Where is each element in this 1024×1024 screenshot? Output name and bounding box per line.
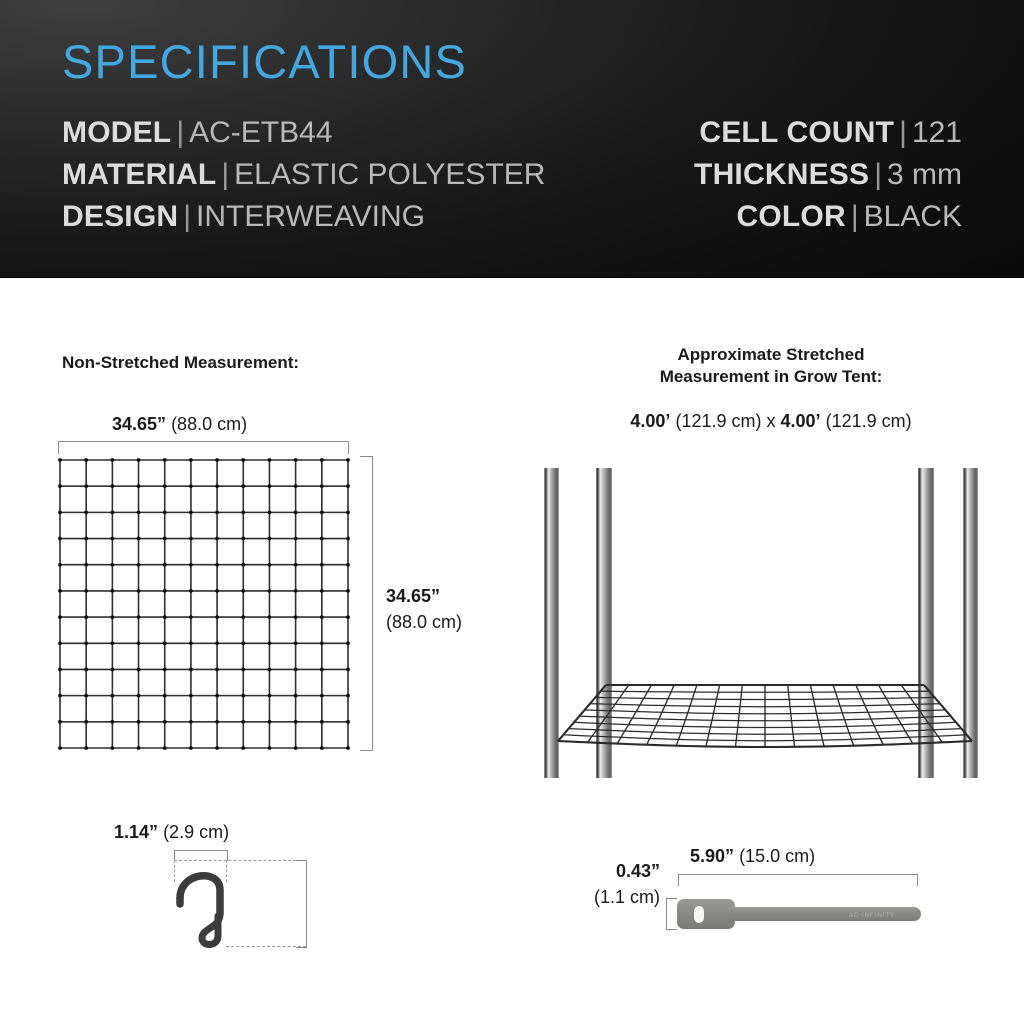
net-width-cm: (88.0 cm): [171, 414, 247, 434]
tent-width-cm: (121.9 cm): [675, 411, 761, 431]
spec-sheet-page: SPECIFICATIONS MODEL|AC-ETB44 MATERIAL|E…: [0, 0, 1024, 1024]
net-height-dimension-label: 34.65” (88.0 cm): [386, 583, 462, 635]
spec-value-material: ELASTIC POLYESTER: [234, 158, 545, 191]
tent-pole-front-right: [918, 468, 934, 778]
tent-dim-separator: x: [767, 411, 776, 431]
tie-length-cm: (15.0 cm): [739, 846, 815, 866]
tent-heading-line2: Measurement in Grow Tent:: [571, 366, 971, 388]
spec-row-thickness: THICKNESS|3 mm: [694, 154, 962, 196]
tent-depth-cm: (121.9 cm): [826, 411, 912, 431]
hook-width-cm: (2.9 cm): [163, 822, 229, 842]
tie-length-dimension-label: 5.90” (15.0 cm): [690, 843, 815, 869]
tent-panel-heading: Approximate Stretched Measurement in Gro…: [571, 344, 971, 388]
net-height-inches: 34.65”: [386, 586, 440, 606]
s-hook-upper-curve: [180, 876, 220, 914]
s-hook-lower-curve: [202, 914, 220, 945]
spec-label-color: COLOR: [736, 200, 845, 233]
spec-label-material: MATERIAL: [62, 158, 216, 191]
hook-height-bracket: [296, 860, 307, 948]
cable-tie-brand: AC INFINITY: [849, 912, 895, 919]
net-height-bracket: [360, 456, 373, 751]
spec-value-model: AC-ETB44: [189, 116, 332, 149]
spec-column-right: CELL COUNT|121 THICKNESS|3 mm COLOR|BLAC…: [694, 112, 962, 238]
net-width-bracket: [58, 441, 349, 454]
spec-label-design: DESIGN: [62, 200, 178, 233]
spec-separator: |: [216, 158, 234, 191]
tent-heading-line1: Approximate Stretched: [571, 344, 971, 366]
spec-separator: |: [846, 200, 864, 233]
spec-label-model: MODEL: [62, 116, 171, 149]
spec-value-thickness: 3 mm: [887, 158, 962, 191]
tent-depth-feet: 4.00’: [781, 411, 821, 431]
stretched-net: [558, 685, 972, 747]
specifications-header: SPECIFICATIONS MODEL|AC-ETB44 MATERIAL|E…: [0, 0, 1024, 278]
net-height-cm: (88.0 cm): [386, 609, 462, 635]
spec-label-thickness: THICKNESS: [694, 158, 869, 191]
net-width-inches: 34.65”: [112, 414, 166, 434]
spec-row-cell-count: CELL COUNT|121: [694, 112, 962, 154]
diagram-area: Non-Stretched Measurement: 34.65” (88.0 …: [0, 278, 1024, 1024]
tent-width-feet: 4.00’: [630, 411, 670, 431]
spec-row-material: MATERIAL|ELASTIC POLYESTER: [62, 154, 545, 196]
s-hook-illustration: [168, 854, 248, 954]
hook-width-dimension-label: 1.14” (2.9 cm): [114, 819, 229, 845]
spec-value-color: BLACK: [864, 200, 962, 233]
spec-column-left: MODEL|AC-ETB44 MATERIAL|ELASTIC POLYESTE…: [62, 112, 545, 238]
grow-tent-illustration: [520, 463, 1000, 783]
tie-width-inches: 0.43”: [616, 861, 660, 881]
tie-length-inches: 5.90”: [690, 846, 734, 866]
cable-tie-illustration: AC INFINITY: [676, 896, 926, 932]
net-panel-heading: Non-Stretched Measurement:: [62, 352, 299, 374]
spec-separator: |: [869, 158, 887, 191]
net-width-dimension-label: 34.65” (88.0 cm): [112, 411, 247, 437]
spec-separator: |: [171, 116, 189, 149]
spec-row-model: MODEL|AC-ETB44: [62, 112, 545, 154]
spec-separator: |: [894, 116, 912, 149]
spec-label-cell-count: CELL COUNT: [699, 116, 894, 149]
page-title: SPECIFICATIONS: [62, 38, 467, 85]
cable-tie-slot: [694, 906, 704, 923]
spec-row-color: COLOR|BLACK: [694, 196, 962, 238]
spec-row-design: DESIGN|INTERWEAVING: [62, 196, 545, 238]
tent-pole-back-left: [544, 468, 559, 778]
tent-pole-front-left: [596, 468, 612, 778]
spec-separator: |: [178, 200, 196, 233]
cable-tie-head: [677, 899, 735, 929]
hook-width-inches: 1.14”: [114, 822, 158, 842]
spec-value-design: INTERWEAVING: [196, 200, 425, 233]
tie-length-bracket: [678, 874, 918, 886]
spec-value-cell-count: 121: [912, 116, 962, 149]
tie-width-dimension-label: 0.43” (1.1 cm): [556, 858, 660, 910]
net-grid-diagram: [56, 456, 352, 752]
tie-width-cm: (1.1 cm): [556, 884, 660, 910]
tent-dimension-label: 4.00’ (121.9 cm) x 4.00’ (121.9 cm): [571, 408, 971, 434]
